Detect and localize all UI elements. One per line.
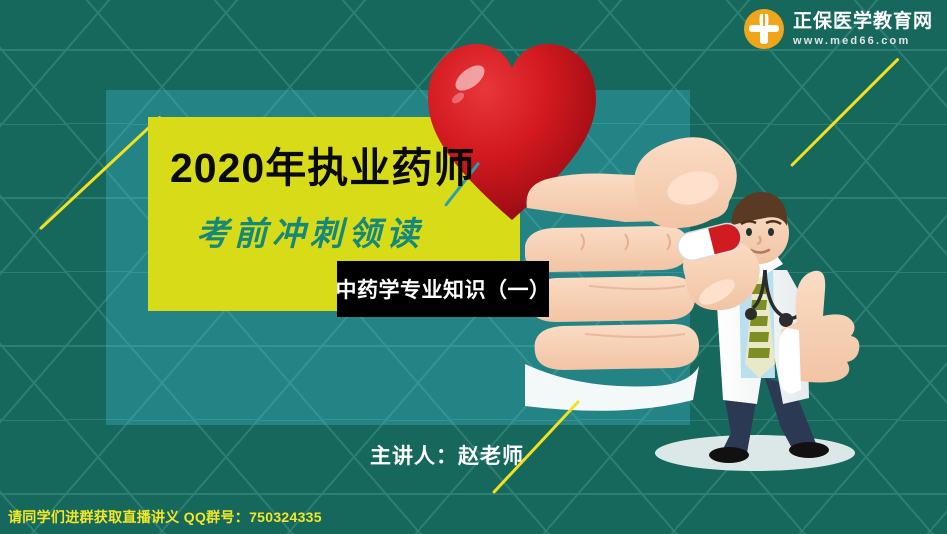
presentation-slide: 2020年执业药师 考前冲刺领读 xyxy=(0,0,947,534)
footer-note: 请同学们进群获取直播讲义 QQ群号：750324335 xyxy=(8,507,322,527)
brand-logo: 正保医学教育网 www.med66.com xyxy=(743,8,933,50)
page-title: 2020年执业药师 xyxy=(170,148,500,189)
presenter-label: 主讲人：赵老师 xyxy=(370,440,524,470)
logo-name: 正保医学教育网 xyxy=(793,12,933,31)
medical-cross-circle-icon xyxy=(743,8,785,50)
thumbs-up-hand xyxy=(779,271,859,394)
subject-label: 中药学专业知识（一） xyxy=(337,261,549,317)
yellow-diagonal-line-top-right xyxy=(790,58,900,168)
page-subtitle: 考前冲刺领读 xyxy=(196,217,496,250)
logo-url: www.med66.com xyxy=(793,36,933,47)
doctor xyxy=(709,192,829,463)
